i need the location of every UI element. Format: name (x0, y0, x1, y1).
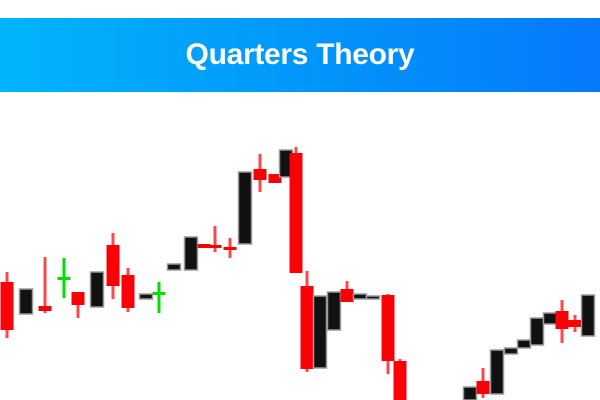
candle-body (107, 245, 120, 286)
candle-body (91, 272, 104, 307)
candle (239, 172, 252, 244)
candle (367, 296, 380, 299)
candle-body (168, 264, 181, 270)
candle (544, 313, 557, 324)
candle-body (394, 361, 407, 400)
candle (72, 292, 85, 318)
candle-body (140, 294, 153, 299)
candle-body (39, 306, 52, 311)
candle (505, 348, 518, 354)
candle (569, 315, 582, 332)
candle-body (341, 289, 354, 302)
candle-body (58, 277, 71, 280)
candle (168, 264, 181, 270)
candle-body (367, 296, 380, 299)
candle (354, 294, 367, 299)
candle (1, 272, 14, 338)
candle-body (1, 282, 14, 330)
candle (107, 233, 120, 299)
candle (290, 147, 303, 273)
candle-body (209, 245, 222, 248)
candle (491, 350, 504, 394)
candle (464, 387, 477, 400)
candle (531, 318, 544, 345)
candle-body (531, 318, 544, 345)
candle (394, 359, 407, 400)
candle-body (254, 169, 267, 180)
candle-body (153, 292, 166, 295)
candle (254, 154, 267, 192)
candle (518, 340, 531, 348)
candle-series (1, 147, 595, 400)
candle-body (582, 295, 595, 336)
candle-body (185, 237, 198, 270)
candlestick-chart (0, 92, 600, 400)
candle (224, 238, 237, 258)
candle-body (382, 295, 395, 361)
candle-body (518, 340, 531, 348)
candle (477, 368, 490, 398)
candle-body (556, 311, 569, 329)
candle-body (122, 275, 135, 308)
candle-body (328, 292, 341, 330)
candle (341, 281, 354, 302)
candle-wick (214, 226, 217, 252)
candle (91, 272, 104, 307)
candle-wick (44, 257, 47, 313)
candle-body (72, 292, 85, 305)
candle (153, 282, 166, 313)
candle (185, 237, 198, 270)
candle-body (239, 172, 252, 244)
candle (209, 226, 222, 252)
candle (140, 294, 153, 299)
candle-body (301, 286, 314, 369)
candle-body (477, 381, 490, 394)
candle-body (290, 153, 303, 273)
candle-body (544, 313, 557, 324)
candle-wick (158, 282, 161, 313)
candle (556, 300, 569, 343)
candle (122, 268, 135, 312)
candle-body (224, 247, 237, 250)
header-banner: Quarters Theory (0, 18, 600, 92)
candle (39, 257, 52, 313)
screenshot-root: Quarters Theory (0, 0, 600, 400)
candle (582, 295, 595, 336)
candle (58, 258, 71, 298)
candle-body (505, 348, 518, 354)
candle (301, 271, 314, 372)
candle-body (569, 320, 582, 327)
candle (20, 289, 33, 314)
candle (314, 296, 327, 368)
candle-body (491, 350, 504, 394)
candle-body (354, 294, 367, 299)
candle (328, 292, 341, 330)
candle-body (20, 289, 33, 314)
page-title: Quarters Theory (186, 40, 415, 70)
candle-body (314, 296, 327, 368)
candlestick-chart-svg (0, 92, 600, 400)
candle-body (464, 387, 477, 400)
candle (382, 294, 395, 374)
